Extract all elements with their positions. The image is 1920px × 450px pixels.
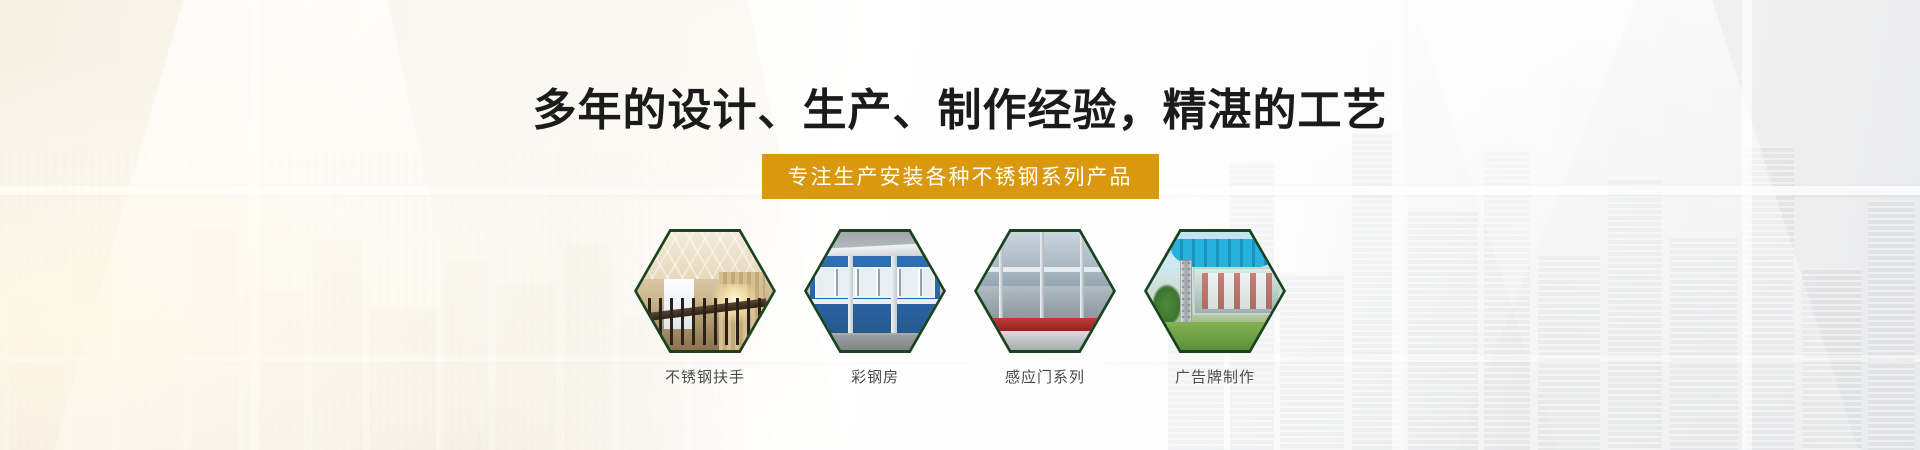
subtitle-badge: 专注生产安装各种不锈钢系列产品: [762, 154, 1159, 199]
product-label: 感应门系列: [1005, 366, 1085, 387]
billboard-sign-photo: [1147, 232, 1283, 350]
product-item-sensor-door[interactable]: 感应门系列: [971, 229, 1119, 387]
product-label: 不锈钢扶手: [665, 366, 745, 387]
hexagon-frame: [804, 229, 946, 353]
headline-text: 多年的设计、生产、制作经验，精湛的工艺: [533, 74, 1388, 138]
promo-banner: 多年的设计、生产、制作经验，精湛的工艺 专注生产安装各种不锈钢系列产品: [0, 0, 1920, 450]
product-item-color-steel-cabin[interactable]: 彩钢房: [801, 229, 949, 387]
product-item-handrail[interactable]: 不锈钢扶手: [631, 229, 779, 387]
product-item-billboard[interactable]: 广告牌制作: [1141, 229, 1289, 387]
hexagon-frame: [634, 229, 776, 353]
stainless-handrail-photo: [637, 232, 773, 350]
product-hexagon-row: 不锈钢扶手: [631, 229, 1289, 387]
sensor-door-photo: [977, 232, 1113, 350]
color-steel-cabin-photo: [807, 232, 943, 350]
hexagon-frame: [974, 229, 1116, 353]
product-label: 广告牌制作: [1175, 366, 1255, 387]
hexagon-frame: [1144, 229, 1286, 353]
product-label: 彩钢房: [851, 366, 899, 387]
banner-content: 多年的设计、生产、制作经验，精湛的工艺 专注生产安装各种不锈钢系列产品: [0, 0, 1920, 450]
